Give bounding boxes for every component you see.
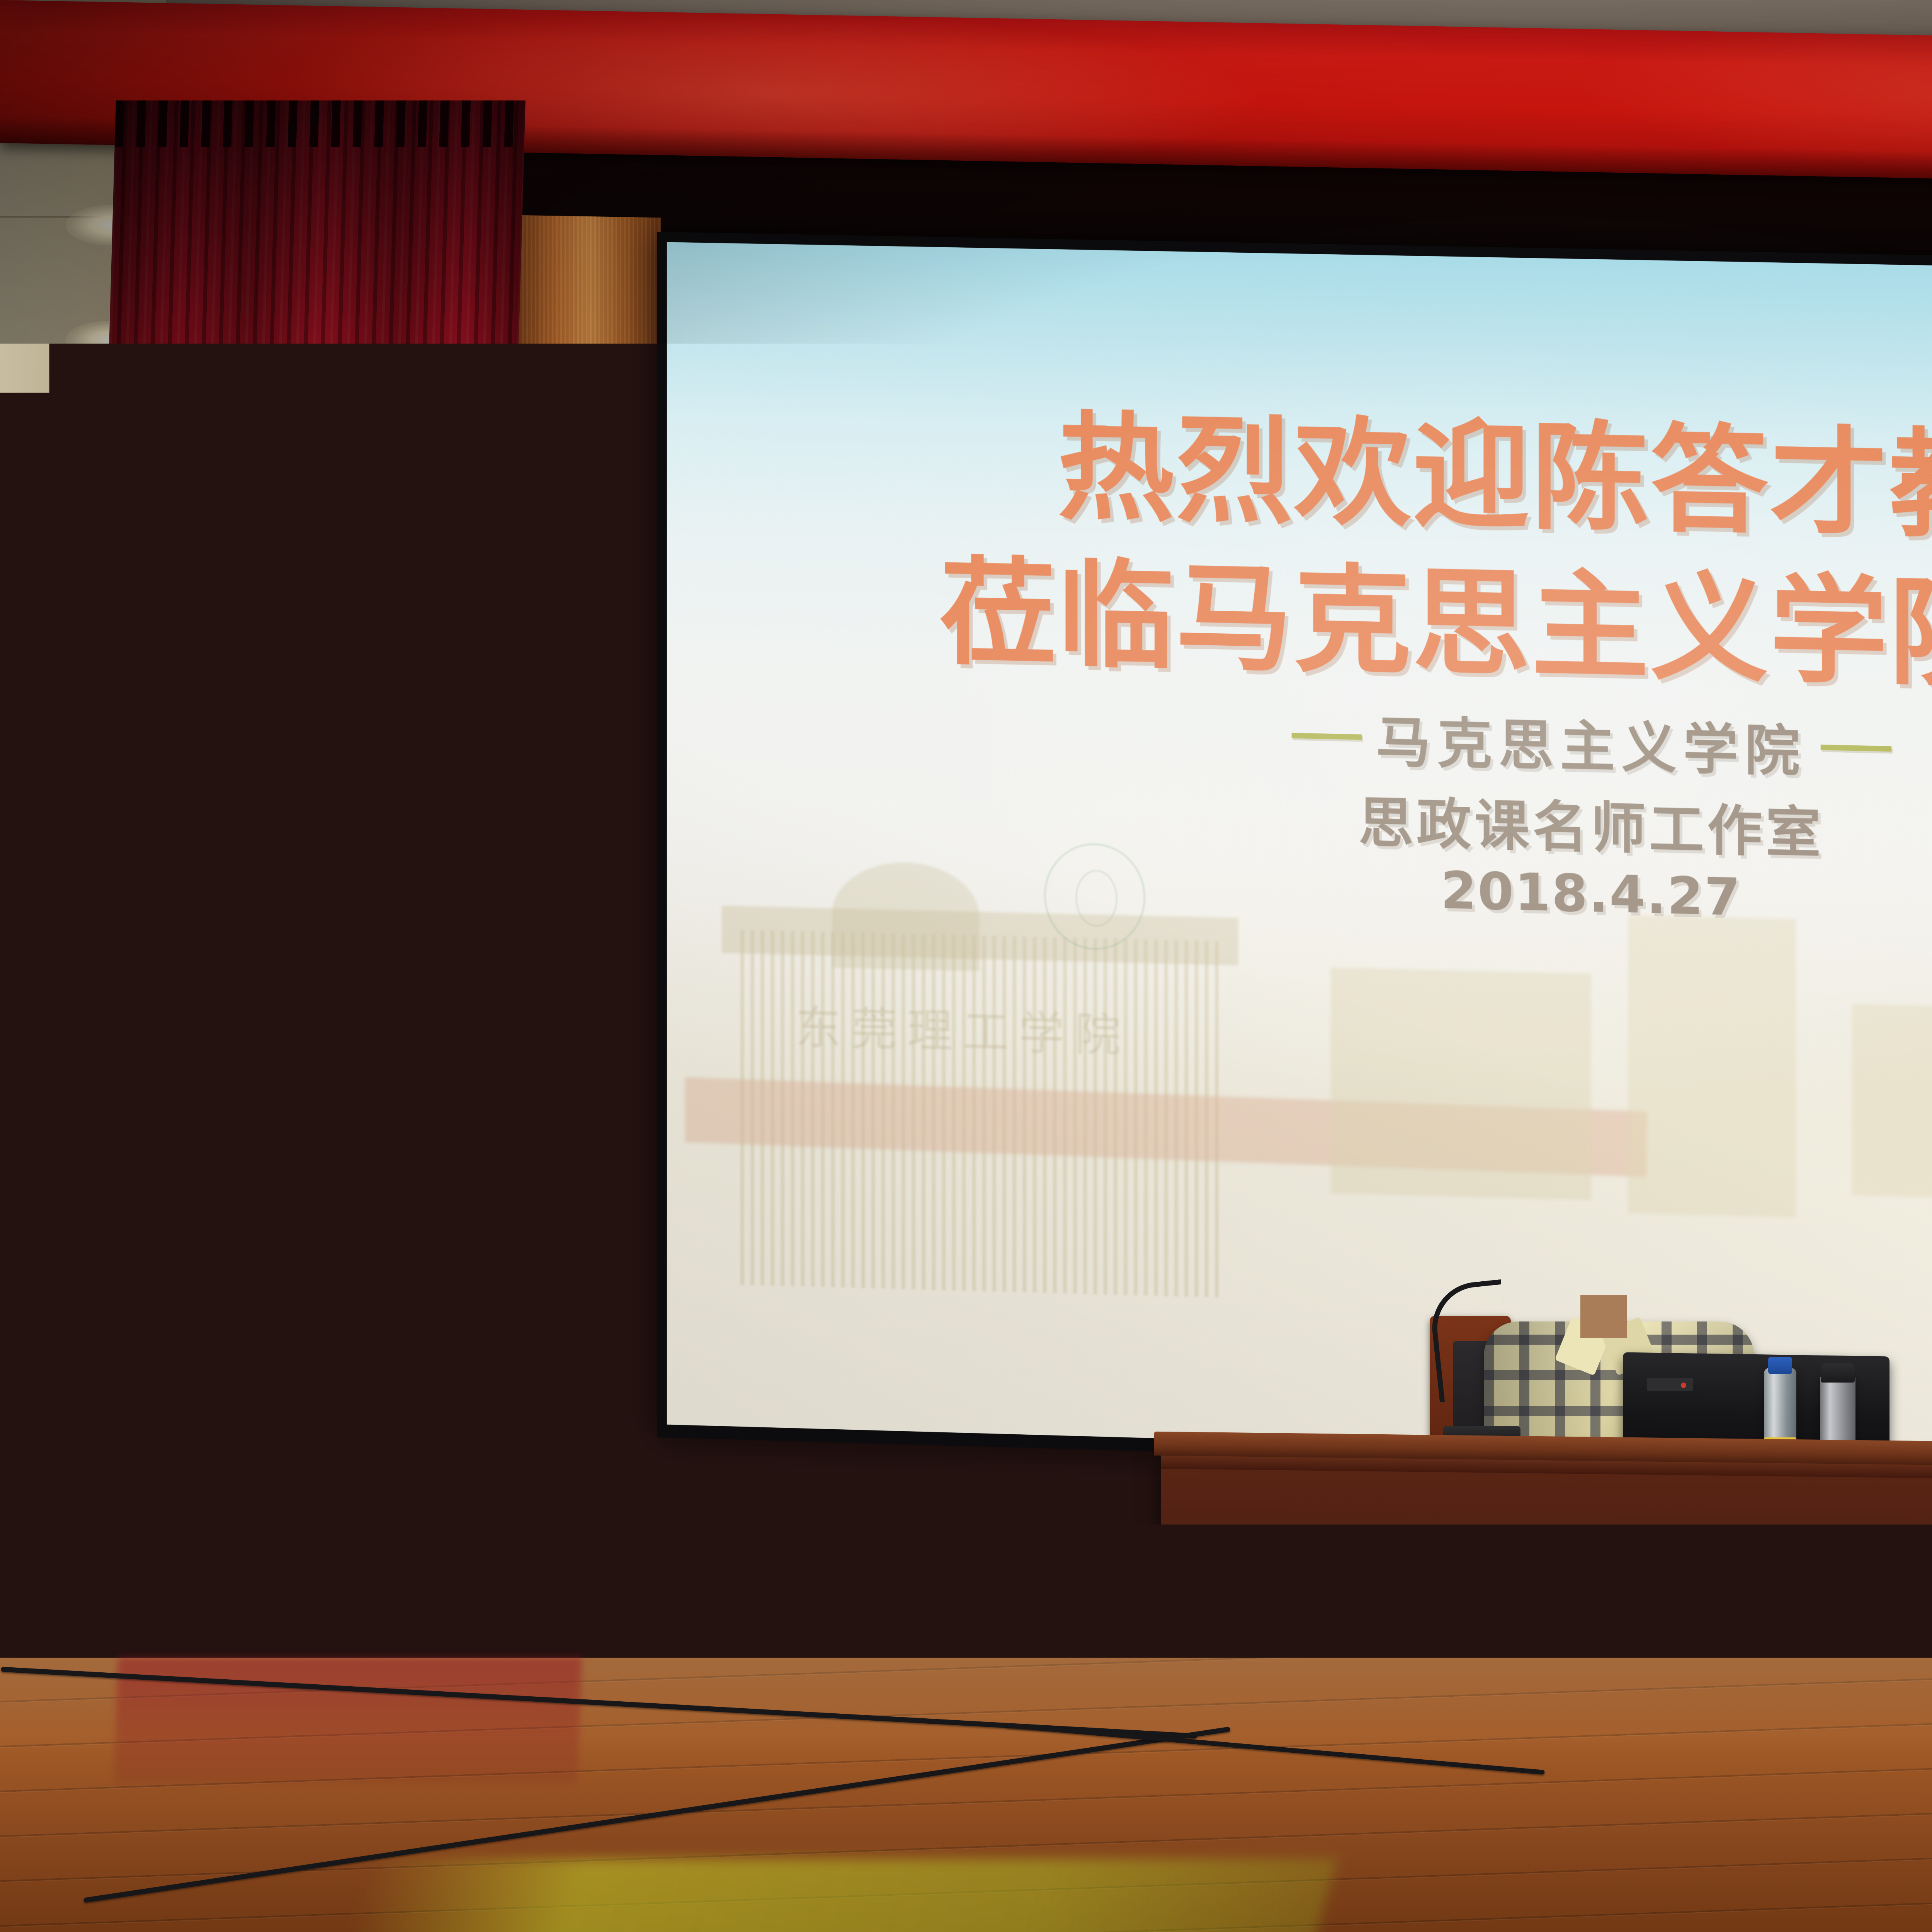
seated-person-mouth	[1582, 1295, 1618, 1301]
slide-subtitle-block: 马克思主义学院 思政课名师工作室 2018.4.27	[667, 683, 1932, 946]
podium-table	[1161, 1447, 1932, 1917]
seated-person-hair	[1548, 1187, 1656, 1245]
laptop-indicator-dot	[1681, 1383, 1686, 1388]
thermos-cap	[1821, 1363, 1855, 1383]
laptop-logo-icon	[1647, 1378, 1693, 1391]
power-outlet	[642, 1603, 665, 1640]
slide-subtitle-line-1: 马克思主义学院	[1376, 698, 1806, 786]
seated-person-nose	[1595, 1267, 1604, 1291]
slide-text-block: 热烈欢迎陈答才教授 莅临马克思主义学院讲学 马克思主义学院 思政课名师工作室 2…	[667, 242, 1932, 1476]
projection-screen: 东莞理工学院 热烈欢迎陈答才教授 莅临马克思主义学院讲学 马克思主义学院 思政课…	[667, 242, 1932, 1476]
water-bottle-cap	[1768, 1357, 1792, 1374]
projection-screen-frame: 东莞理工学院 热烈欢迎陈答才教授 莅临马克思主义学院讲学 马克思主义学院 思政课…	[657, 232, 1932, 1490]
decorative-dash-left	[1292, 733, 1362, 740]
seated-person-eye	[1611, 1260, 1631, 1265]
decorative-dash-right	[1821, 745, 1891, 752]
podium-inset-panel	[1242, 1556, 1876, 1795]
stage-curtain-left	[71, 100, 526, 1716]
seated-person-eye	[1571, 1260, 1592, 1266]
auditorium-photo: 东莞理工学院 热烈欢迎陈答才教授 莅临马克思主义学院讲学 马克思主义学院 思政课…	[0, 0, 1932, 1932]
wood-pilaster-left	[518, 215, 661, 1477]
